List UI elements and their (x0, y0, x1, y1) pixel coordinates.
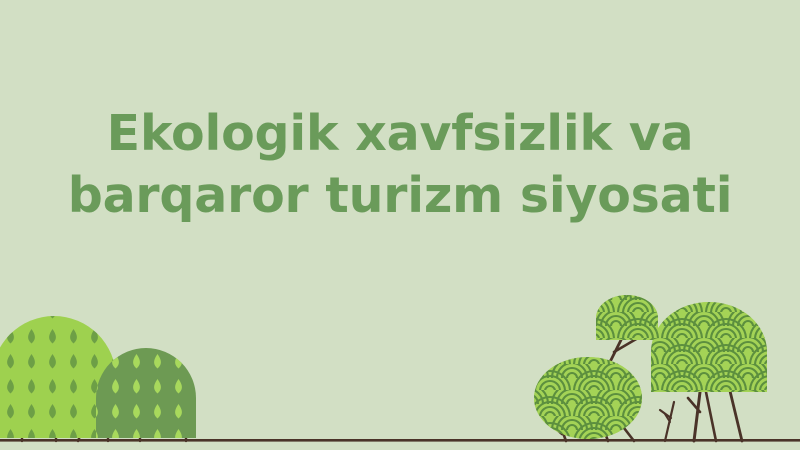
presentation-slide: Ekologik xavfsizlik va barqaror turizm s… (0, 0, 800, 450)
page-title: Ekologik xavfsizlik va barqaror turizm s… (0, 103, 800, 227)
title-line-1: Ekologik xavfsizlik va (0, 103, 800, 165)
ground-line (0, 439, 800, 442)
title-line-2: barqaror turizm siyosati (0, 165, 800, 227)
